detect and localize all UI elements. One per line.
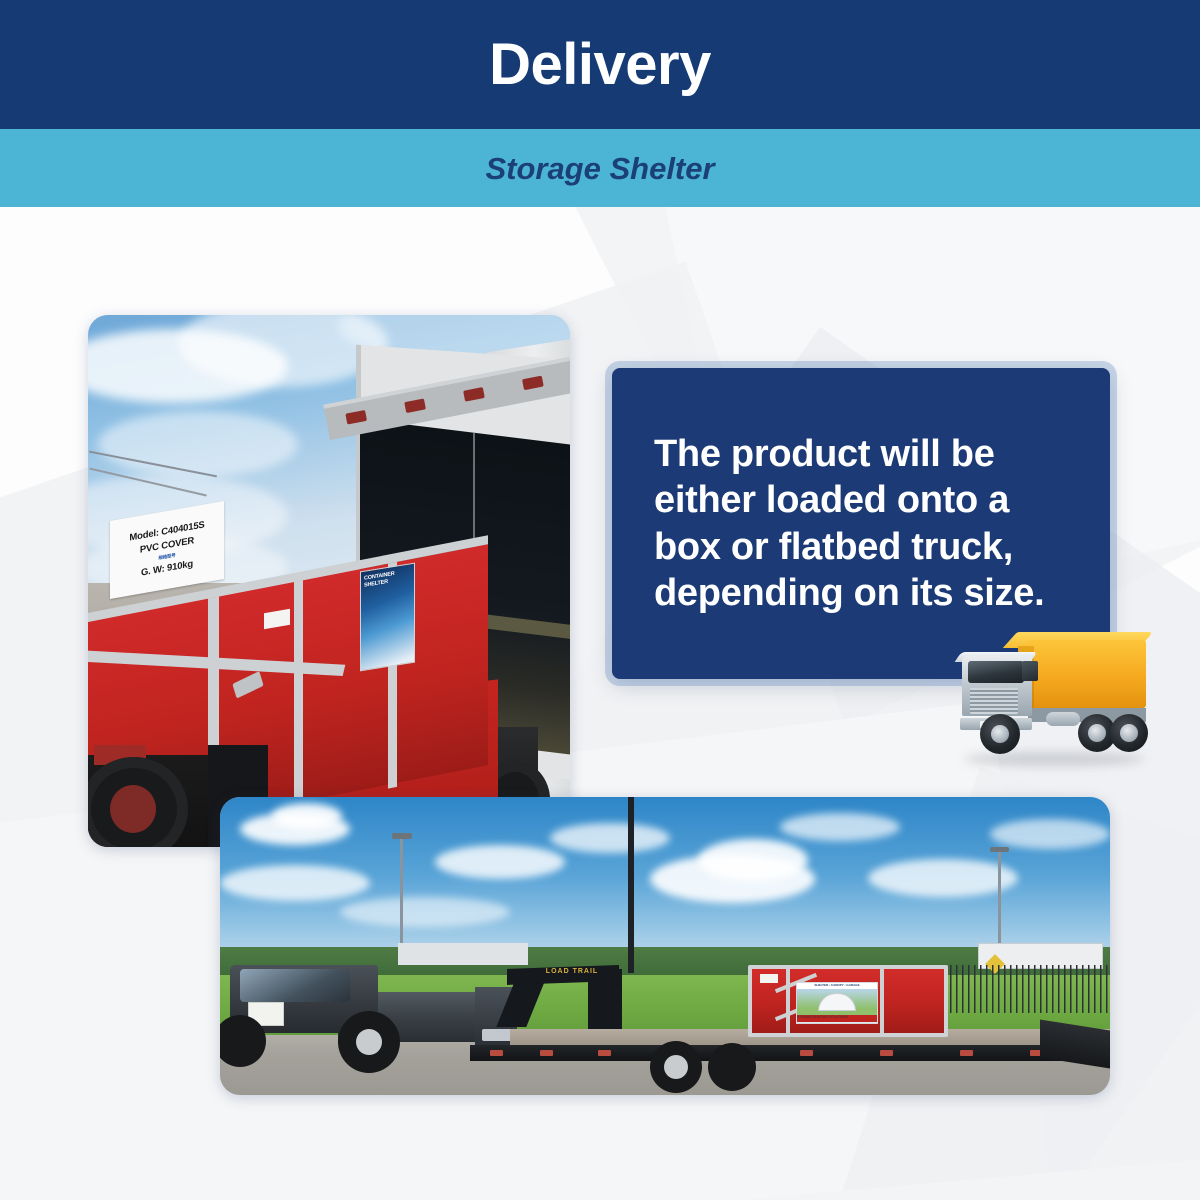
- truck-windshield: [968, 661, 1024, 683]
- photo2-cloud: [698, 839, 808, 881]
- photo2-cloud: [435, 845, 565, 879]
- photo2-light-head: [392, 833, 412, 839]
- photo2-red-crate: SHELTER • CANOPY • GARAGE STORAGE BUILDI…: [748, 965, 948, 1037]
- photo1-container-shelter-poster: CONTAINER SHELTER: [360, 563, 415, 672]
- photo2-cloud: [990, 819, 1110, 849]
- label-small: 规格型号: [158, 552, 175, 561]
- label-weight: G. W: 910kg: [141, 558, 193, 578]
- photo2-pickup-hub: [356, 1029, 382, 1055]
- truck-side-window: [1022, 661, 1038, 681]
- photo1-crate-handle: [232, 671, 263, 698]
- photo2-crate-poster: SHELTER • CANOPY • GARAGE STORAGE BUILDI…: [796, 982, 878, 1024]
- flatbed-trailer-photo: LOAD TRAIL: [220, 797, 1110, 1095]
- photo2-trailer-frame: [470, 1045, 1110, 1061]
- poster-subtitle: STORAGE BUILDING SOLUTIONS: [797, 1015, 877, 1022]
- page-subtitle: Storage Shelter: [485, 153, 714, 184]
- photo2-cloud: [220, 865, 370, 901]
- truck-fuel-tank: [1046, 712, 1080, 726]
- subheader-banner: Storage Shelter: [0, 129, 1200, 207]
- page-title: Delivery: [489, 36, 711, 94]
- truck-rear-rim: [1120, 724, 1138, 742]
- photo2-cloud: [780, 813, 900, 841]
- photo2-pickup-windows: [240, 969, 350, 1002]
- truck-rear-rim: [1088, 724, 1106, 742]
- truck-shadow: [964, 752, 1144, 766]
- truck-grille: [970, 688, 1018, 714]
- photo1-forklift-hub: [110, 785, 156, 833]
- photo2-trailer-brand: LOAD TRAIL: [530, 967, 614, 976]
- delivery-truck-icon: [950, 630, 1156, 770]
- slide-canvas: Delivery Storage Shelter: [0, 0, 1200, 1200]
- photo2-crate-sticker: [760, 974, 778, 983]
- header-banner: Delivery: [0, 0, 1200, 129]
- photo2-far-building: [398, 943, 528, 965]
- photo2-light-head: [990, 847, 1009, 852]
- photo2-utility-pole: [628, 797, 634, 973]
- callout-text: The product will be either loaded onto a…: [654, 431, 1068, 616]
- photo2-fence: [920, 965, 1110, 1013]
- photo2-trailer-wheel: [708, 1043, 756, 1091]
- photo2-trailer-hub: [664, 1055, 688, 1079]
- photo2-cloud: [272, 803, 342, 829]
- photo2-cloud: [550, 823, 670, 853]
- photo1-cloud: [98, 411, 298, 477]
- photo2-cloud: [868, 859, 1018, 897]
- truck-cargo-body: [1028, 640, 1146, 708]
- truck-front-rim: [991, 725, 1009, 743]
- box-truck-loading-photo: Model: C404015S PVC COVER 规格型号 G. W: 910…: [88, 315, 570, 847]
- photo2-cloud: [340, 897, 510, 927]
